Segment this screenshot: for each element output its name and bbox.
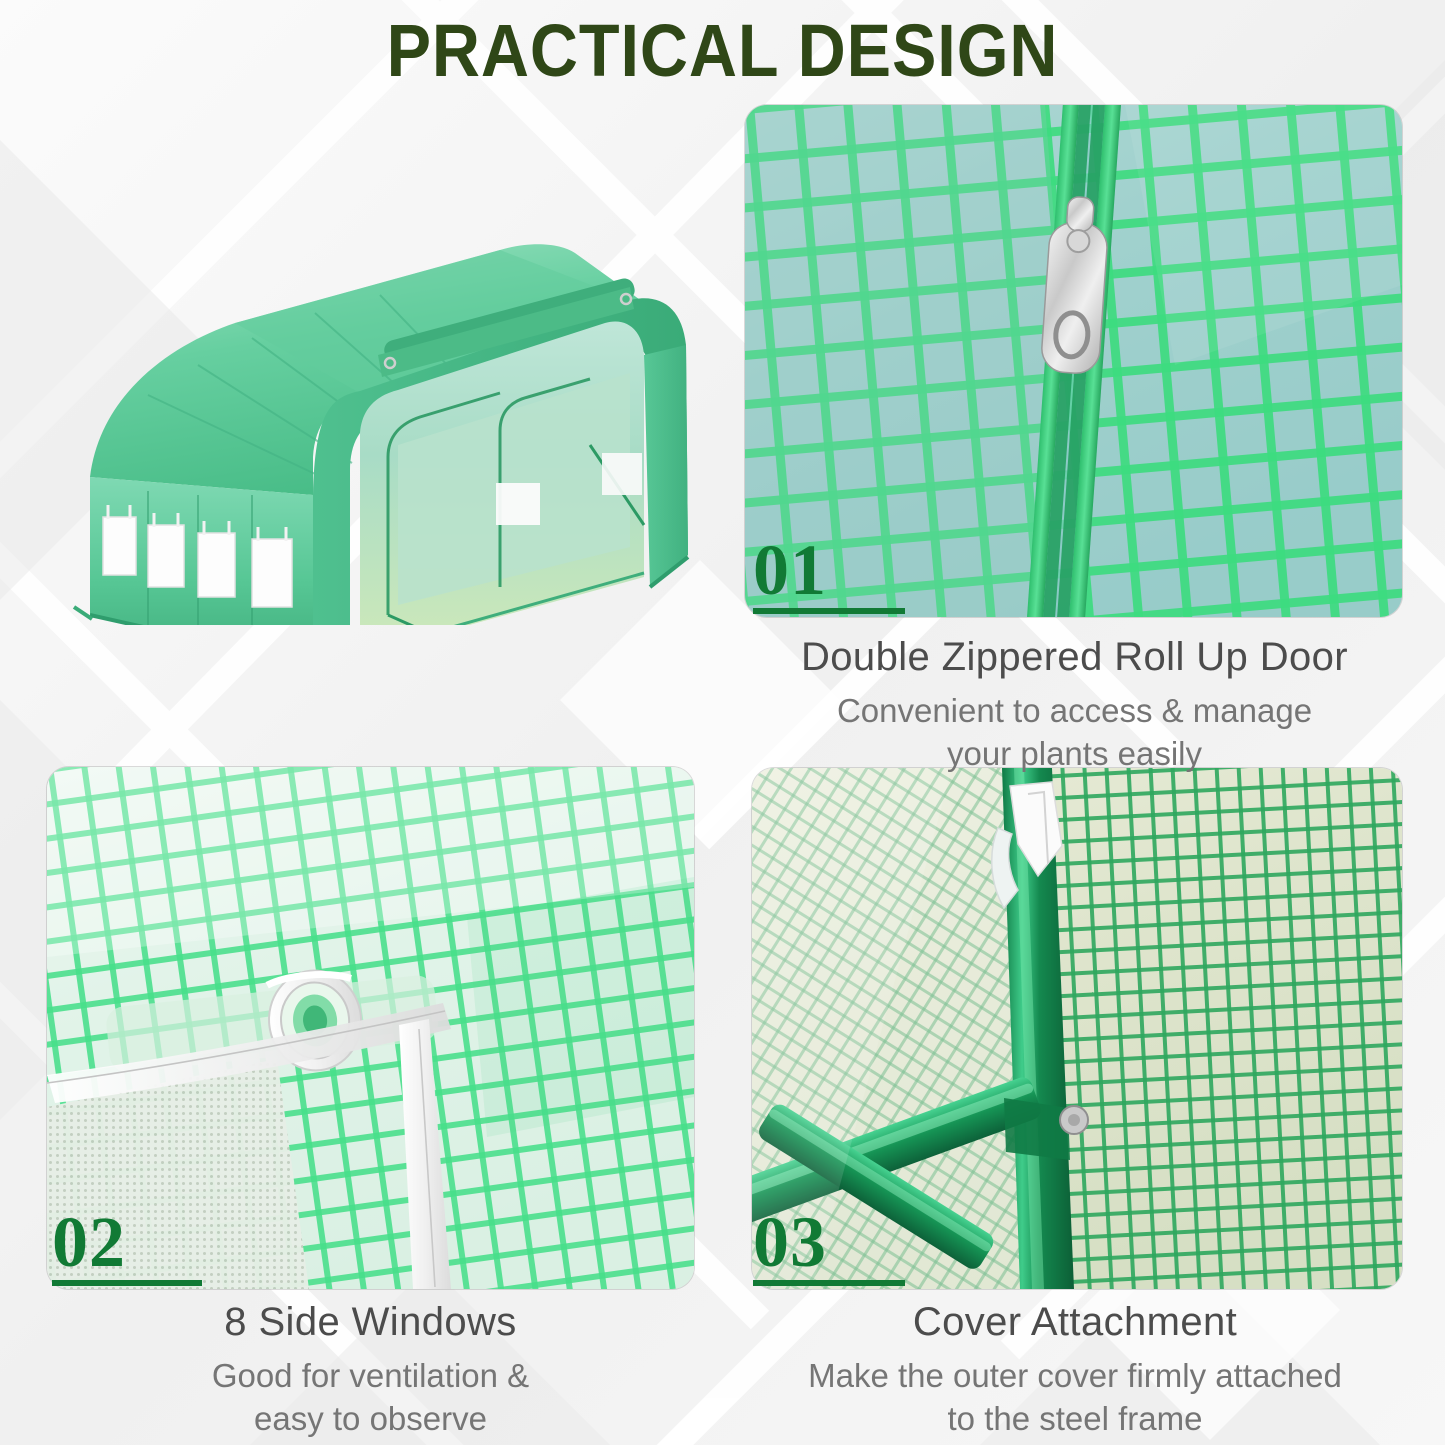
feature-subtitle-03: Make the outer cover firmly attached to …	[730, 1355, 1420, 1441]
feature-caption-02: 8 Side Windows Good for ventilation & ea…	[47, 1300, 694, 1441]
feature-caption-03: Cover Attachment Make the outer cover fi…	[730, 1300, 1420, 1441]
feature-badge-02: 02	[52, 1208, 202, 1286]
feature-subtitle-01: Convenient to access & manage your plant…	[742, 690, 1407, 776]
feature-badge-03: 03	[753, 1208, 905, 1286]
feature-caption-01: Double Zippered Roll Up Door Convenient …	[742, 635, 1407, 776]
feature-title-01: Double Zippered Roll Up Door	[742, 635, 1407, 680]
infographic-root: PRACTICAL DESIGN	[0, 0, 1445, 1445]
feature-number-03: 03	[753, 1208, 905, 1276]
feature-number-02: 02	[52, 1208, 202, 1276]
hero-product-image	[30, 195, 730, 625]
feature-title-03: Cover Attachment	[730, 1300, 1420, 1345]
feature-badge-01: 01	[753, 536, 905, 614]
feature-number-01: 01	[753, 536, 905, 604]
feature-subtitle-02: Good for ventilation & easy to observe	[47, 1355, 694, 1441]
greenhouse-illustration-icon	[30, 195, 730, 625]
page-title: PRACTICAL DESIGN	[72, 8, 1373, 93]
feature-title-02: 8 Side Windows	[47, 1300, 694, 1345]
